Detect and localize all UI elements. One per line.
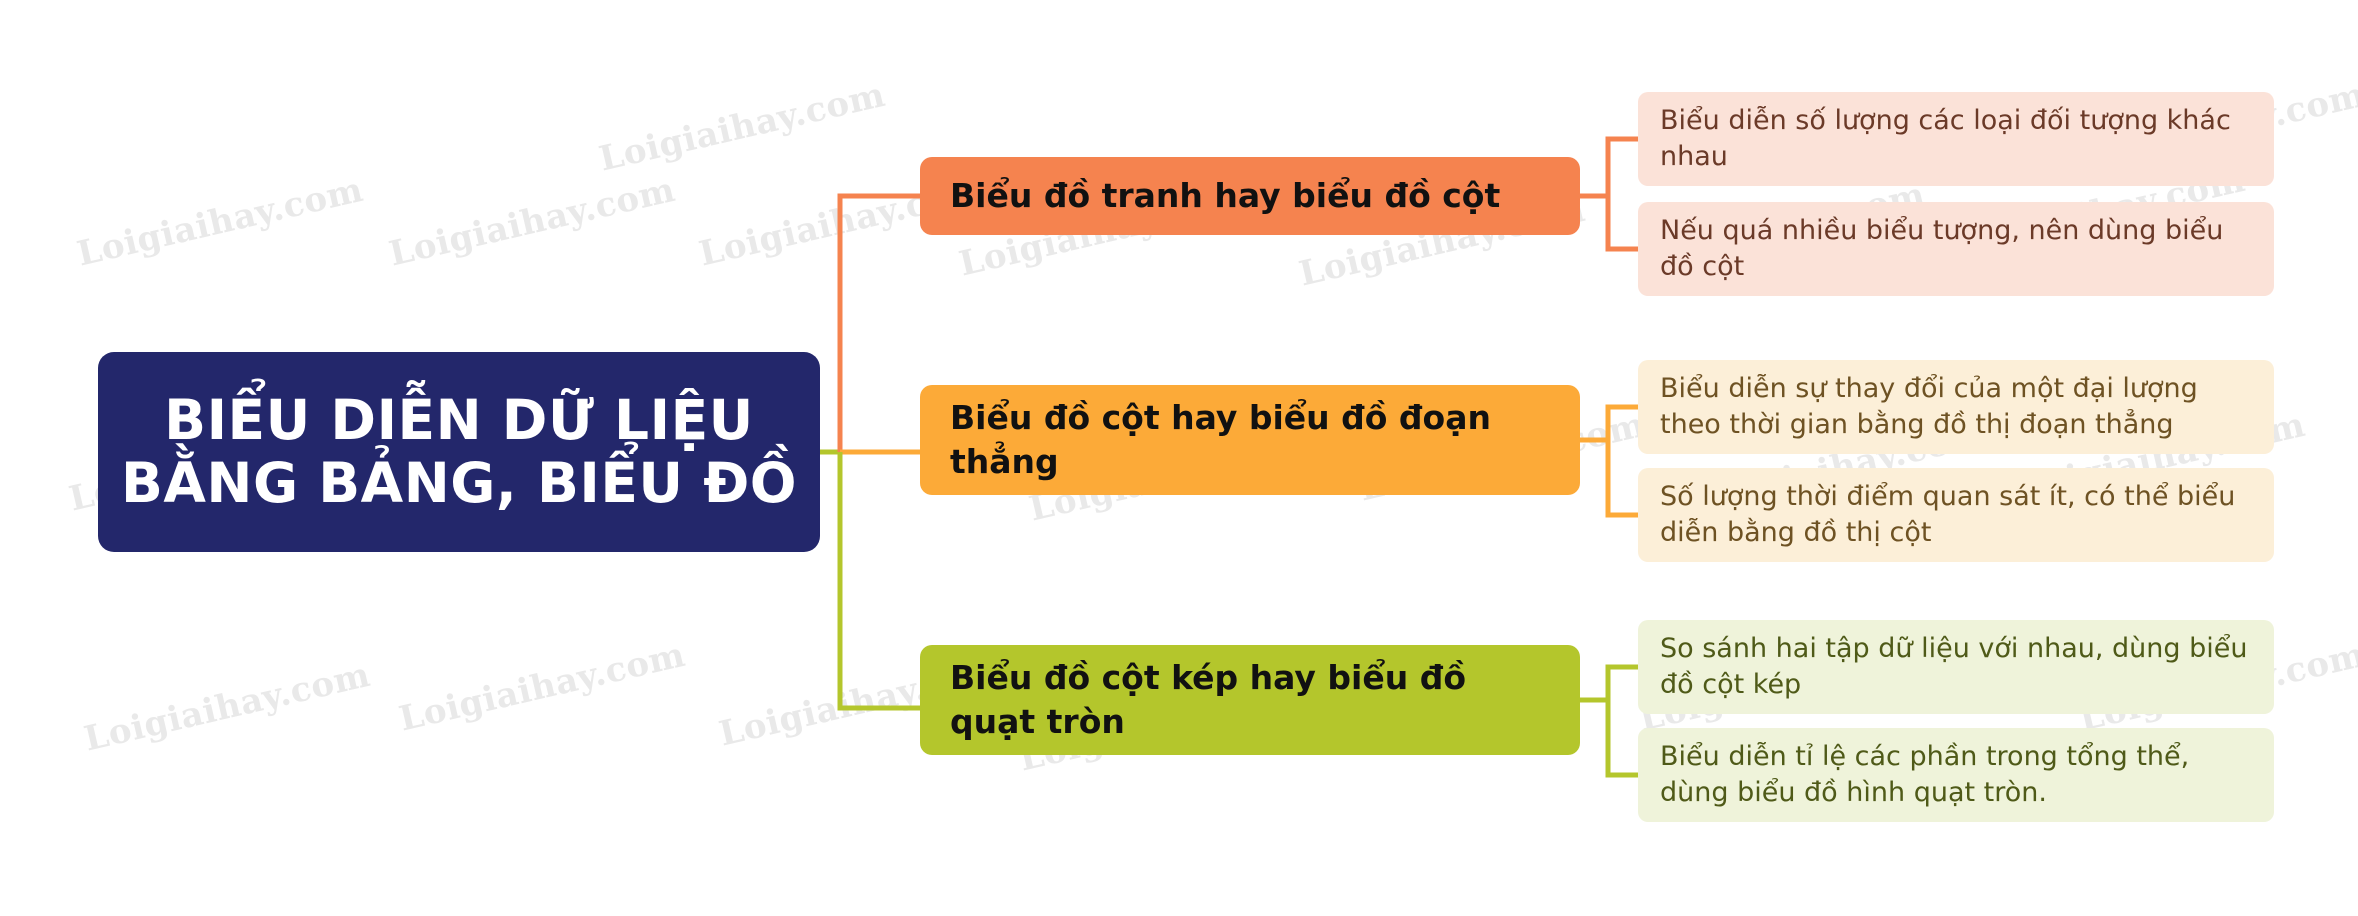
leaf-node-2-0[interactable]: So sánh hai tập dữ liệu với nhau, dùng b… [1638, 620, 2274, 714]
leaf-node-0-0[interactable]: Biểu diễn số lượng các loại đối tượng kh… [1638, 92, 2274, 186]
leaf-node-1-0[interactable]: Biểu diễn sự thay đổi của một đại lượng … [1638, 360, 2274, 454]
connector-branch-2-to-leaf-0 [1608, 667, 1638, 700]
mindmap-diagram: BIỂU DIỄN DỮ LIỆU BẰNG BẢNG, BIỂU ĐỒ Biể… [0, 0, 2358, 916]
leaf-node-2-1[interactable]: Biểu diễn tỉ lệ các phần trong tổng thể,… [1638, 728, 2274, 822]
leaf-node-0-1-label: Nếu quá nhiều biểu tượng, nên dùng biểu … [1660, 213, 2252, 285]
root-node[interactable]: BIỂU DIỄN DỮ LIỆU BẰNG BẢNG, BIỂU ĐỒ [98, 352, 820, 552]
connector-branch-2-to-leaf-1 [1608, 700, 1638, 775]
branch-node-2-label: Biểu đồ cột kép hay biểu đồ quạt tròn [950, 656, 1550, 743]
leaf-node-1-1-label: Số lượng thời điểm quan sát ít, có thể b… [1660, 479, 2252, 551]
connector-branch-1-to-leaf-1 [1608, 440, 1638, 515]
leaf-node-1-0-label: Biểu diễn sự thay đổi của một đại lượng … [1660, 371, 2252, 443]
leaf-node-0-1[interactable]: Nếu quá nhiều biểu tượng, nên dùng biểu … [1638, 202, 2274, 296]
branch-node-1-label: Biểu đồ cột hay biểu đồ đoạn thẳng [950, 396, 1550, 483]
connector-branch-0-to-leaf-1 [1608, 196, 1638, 249]
root-node-label: BIỂU DIỄN DỮ LIỆU BẰNG BẢNG, BIỂU ĐỒ [98, 389, 820, 514]
leaf-node-0-0-label: Biểu diễn số lượng các loại đối tượng kh… [1660, 103, 2252, 175]
branch-node-1[interactable]: Biểu đồ cột hay biểu đồ đoạn thẳng [920, 385, 1580, 495]
branch-node-0-label: Biểu đồ tranh hay biểu đồ cột [950, 174, 1500, 218]
connector-branch-0-to-leaf-0 [1608, 139, 1638, 196]
leaf-node-1-1[interactable]: Số lượng thời điểm quan sát ít, có thể b… [1638, 468, 2274, 562]
connector-root-to-branch-0 [840, 196, 920, 452]
leaf-node-2-0-label: So sánh hai tập dữ liệu với nhau, dùng b… [1660, 631, 2252, 703]
connector-branch-1-to-leaf-0 [1608, 407, 1638, 440]
branch-node-2[interactable]: Biểu đồ cột kép hay biểu đồ quạt tròn [920, 645, 1580, 755]
connector-root-to-branch-2 [840, 452, 920, 708]
branch-node-0[interactable]: Biểu đồ tranh hay biểu đồ cột [920, 157, 1580, 235]
leaf-node-2-1-label: Biểu diễn tỉ lệ các phần trong tổng thể,… [1660, 739, 2252, 811]
